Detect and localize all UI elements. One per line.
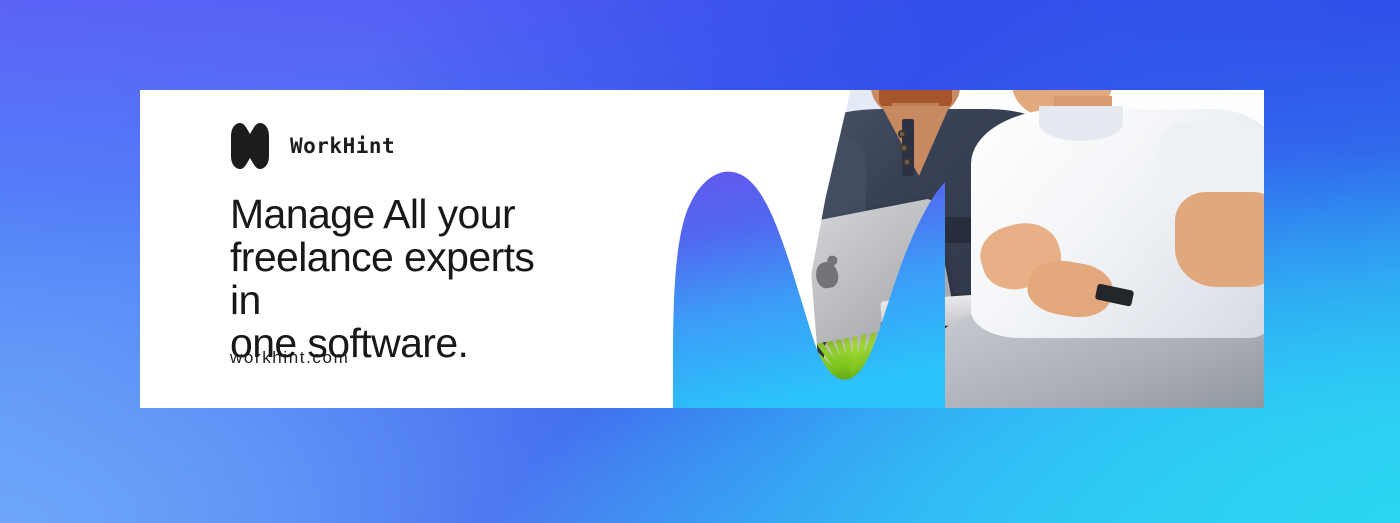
banner-stage: WorkHint Manage All your freelance exper…	[0, 0, 1400, 523]
website-url[interactable]: workhint.com	[230, 348, 349, 368]
right-person-collar	[1039, 106, 1123, 141]
page-title: Manage All your freelance experts in one…	[230, 193, 558, 365]
banner-card: WorkHint Manage All your freelance exper…	[140, 90, 1264, 408]
right-person-arm	[1175, 192, 1264, 287]
banner-content: WorkHint Manage All your freelance exper…	[228, 90, 558, 408]
workhint-logo-icon	[228, 122, 272, 170]
wave-graphic	[525, 90, 945, 408]
brand-lockup[interactable]: WorkHint	[228, 122, 395, 170]
brand-name: WorkHint	[290, 134, 395, 158]
